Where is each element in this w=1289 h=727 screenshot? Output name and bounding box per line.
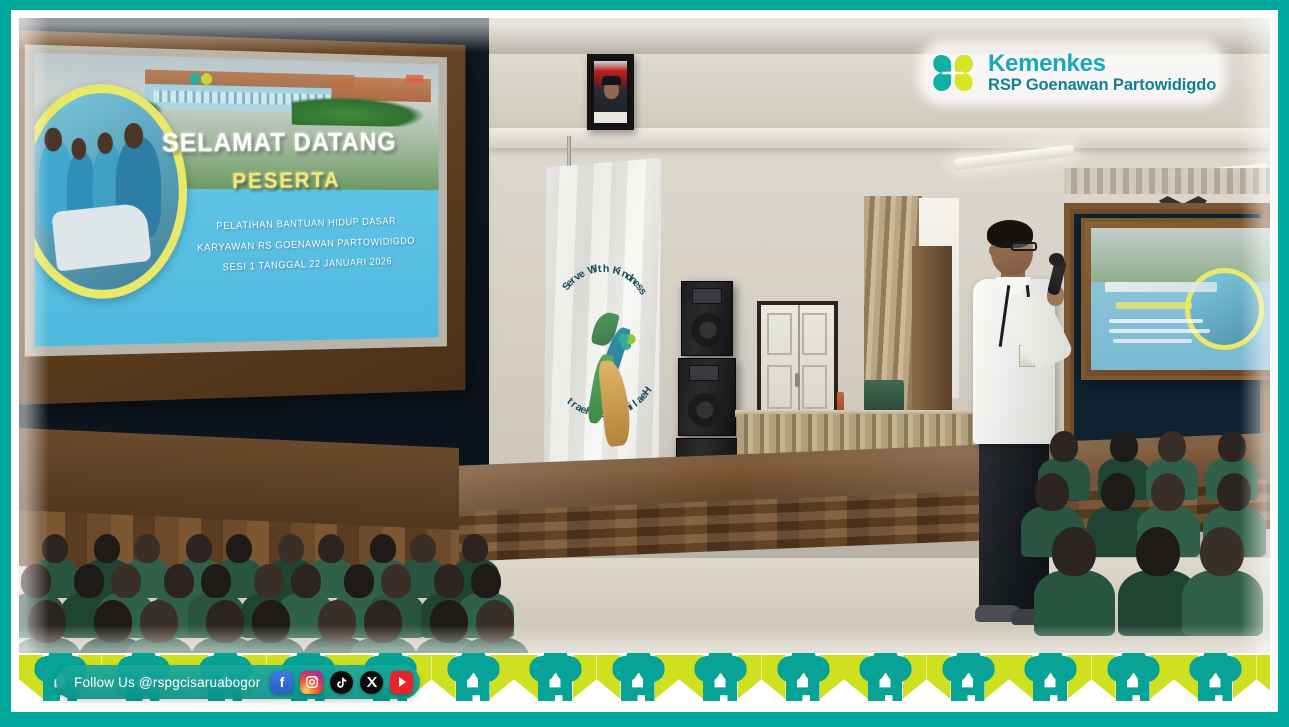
x-icon[interactable] [360,671,383,694]
event-photograph: SELAMAT DATANG PESERTA PELATIHAN BANTUAN… [19,18,1270,655]
pattern-motif [1092,653,1175,711]
slide-cpr-manikin [51,202,151,271]
door-panel [802,313,827,355]
audience-person [111,564,141,598]
slide-corner-tag [406,74,423,82]
slide-details: PELATIHAN BANTUAN HIDUP DASAR KARYAWAN R… [174,211,436,281]
pattern-motif [927,653,1010,711]
water-bottle [837,392,844,411]
audience-person [291,564,321,598]
audience-person [462,534,488,563]
pattern-motif [762,653,845,711]
slide-head-2 [71,137,86,159]
audience-person [1035,473,1069,511]
audience-person [1200,527,1244,576]
badge-text: Kemenkes RSP Goenawan Partowidigdo [988,52,1216,94]
stage-chair [864,380,904,412]
audience-person [74,564,104,598]
door-panel [767,365,792,409]
speaker-horn [692,288,722,304]
audience-person [318,600,356,643]
audience-person [370,534,396,563]
slide-subtitle: PESERTA [232,166,439,194]
pa-speaker-top [681,281,733,356]
flag-arc-top-text: Serve With Kindness [550,210,656,316]
audience-foreground [19,518,539,655]
audience-person [278,534,304,563]
audience-person [42,534,68,563]
flag-stroke-gold [598,359,633,447]
secondary-slide-circle [1185,268,1264,350]
hospital-name: RSP Goenawan Partowidigdo [988,77,1216,94]
audience-person [28,600,66,643]
audience-person [434,564,464,598]
speaker-cone [688,393,722,427]
secondary-slide-text-bar [1113,339,1192,343]
projector-screen-frame: SELAMAT DATANG PESERTA PELATIHAN BANTUAN… [19,30,465,405]
door-panel [802,365,827,409]
slide-head-3 [97,132,112,154]
flag-clover-icon [618,332,636,350]
audience-person [344,564,374,598]
audience-person [186,534,212,563]
presenter-glasses [1011,242,1037,251]
poster-frame: SELAMAT DATANG PESERTA PELATIHAN BANTUAN… [0,0,1289,727]
audience-person [201,564,231,598]
kemenkes-logo-badge: Kemenkes RSP Goenawan Partowidigdo [926,46,1216,100]
audience-person [94,534,120,563]
door-panel [767,313,792,355]
slide-title: SELAMAT DATANG [162,127,439,158]
audience-person [1136,527,1180,576]
speaker-cone [691,313,725,347]
audience-person [1218,431,1246,462]
double-door [761,305,834,417]
follow-us-label: Follow Us @rspgcisaruabogor [74,675,260,690]
secondary-slide-title-bar [1105,282,1217,292]
audience-person [410,534,436,563]
audience-person [252,600,290,643]
audience-person [254,564,284,598]
slide-kemenkes-logo-icon [187,69,218,89]
tiktok-icon[interactable] [330,671,353,694]
audience-person [1158,431,1186,462]
pattern-motif [1009,653,1092,711]
portrait-nameplate [594,112,627,123]
audience-person [471,564,501,598]
audience-person [134,534,160,563]
door-handle [795,373,800,387]
audience-person [21,564,51,598]
slide-head-1 [45,127,62,151]
pattern-motif [514,653,597,711]
secondary-slide-text-bar [1109,329,1210,333]
pattern-motif [679,653,762,711]
audience-person [318,534,344,563]
audience-person [206,600,244,643]
speaker-horn [689,365,719,381]
official-portrait [587,54,634,130]
audience-person [1217,473,1251,511]
audience-person [140,600,178,643]
hospital-banner-flag: Serve With Kindness Healing With Heart [544,158,661,476]
audience-person [1110,431,1138,462]
pattern-motif [432,653,515,711]
screen-mat: SELAMAT DATANG PESERTA PELATIHAN BANTUAN… [25,44,447,356]
brand-name: Kemenkes [988,52,1216,77]
kemenkes-clover-icon [926,46,980,100]
secondary-slide-text-bar [1109,319,1203,323]
audience-person [1052,527,1096,576]
projected-slide: SELAMAT DATANG PESERTA PELATIHAN BANTUAN… [35,53,439,347]
flag-logo-mark [588,326,634,446]
ceiling-cornice [489,128,1270,148]
door-divider [798,305,800,417]
follow-us-bar: Follow Us @rspgcisaruabogor f [56,665,420,699]
portrait-cap [602,76,621,85]
secondary-screen-frame [1081,218,1270,380]
slide-head-4 [125,122,143,148]
slide-tree-right [292,96,423,127]
audience-person [226,534,252,563]
audience-right [1039,423,1270,655]
pattern-motif [1257,653,1271,711]
audience-person [364,600,402,643]
audience-person [94,600,132,643]
pa-speaker-bottom [678,358,736,436]
audience-person [1050,431,1078,462]
secondary-slide-subtitle-bar [1116,302,1192,309]
audience-person [1151,473,1185,511]
instagram-icon[interactable] [300,671,323,694]
audience-torso [1034,570,1115,636]
audience-person [381,564,411,598]
presenter-ear [989,245,997,256]
secondary-projected-slide [1091,228,1270,370]
audience-person [476,600,514,643]
play-triangle-icon [399,677,406,687]
facebook-icon[interactable]: f [270,671,293,694]
audience-person [1101,473,1135,511]
curtain-valance [1064,168,1270,194]
microphone-head [1049,253,1064,266]
audience-torso [1182,570,1263,636]
pattern-motif [1174,653,1257,711]
pattern-motif [844,653,927,711]
pattern-motif [597,653,680,711]
audience-person [164,564,194,598]
audience-person [430,600,468,643]
youtube-icon[interactable] [390,671,413,694]
